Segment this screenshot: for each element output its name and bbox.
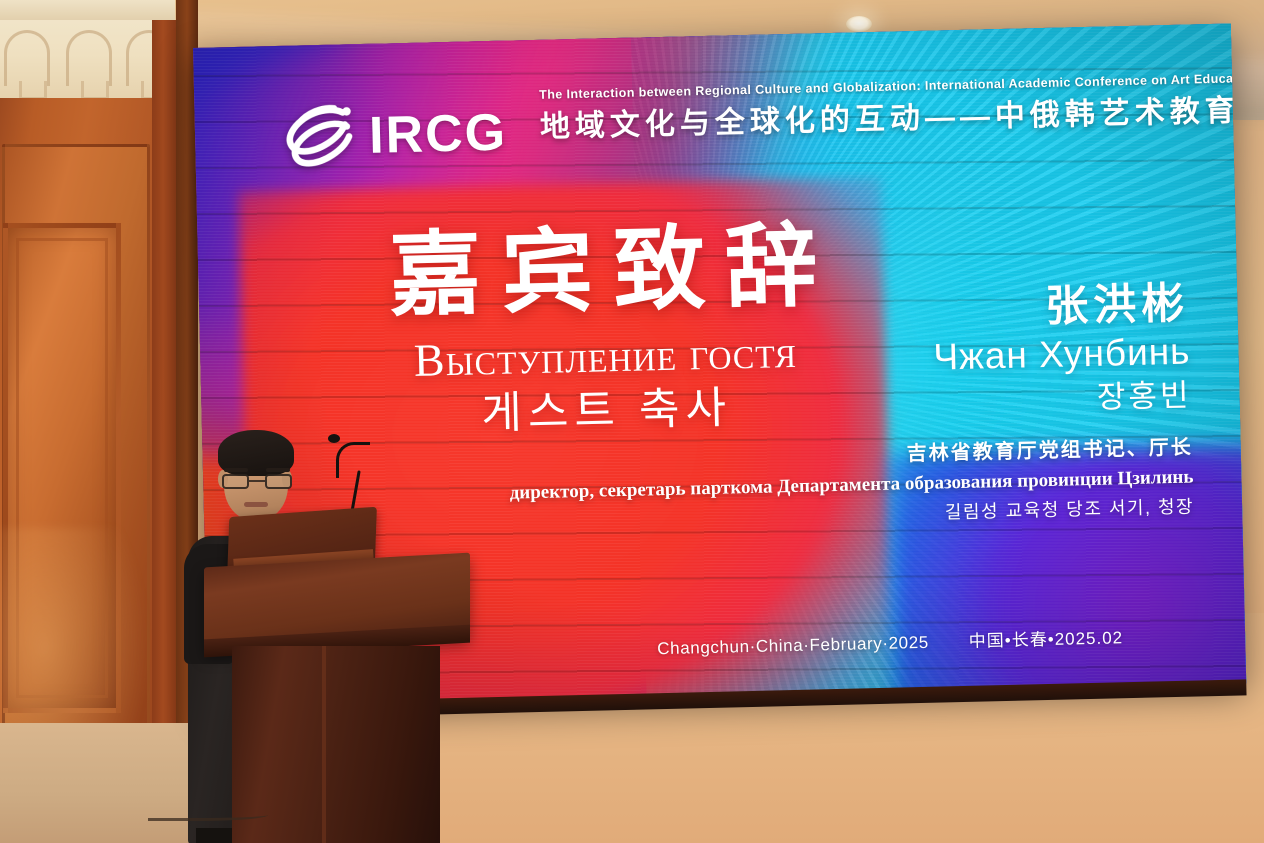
speaker-eyebrow — [266, 468, 290, 472]
microphone-gooseneck — [336, 442, 370, 478]
speaker-position-block: 吉林省教育厅党组书记、厅长 директор, секретарь партко… — [433, 433, 1195, 540]
microphone-icon — [328, 434, 340, 443]
cornice-top-band — [0, 0, 175, 20]
speaker-mouth — [244, 502, 268, 507]
speaker-eyebrow — [224, 468, 248, 472]
footer-chinese: 中国•长春•2025.02 — [968, 623, 1123, 652]
cornice-arch-motif — [4, 30, 50, 86]
headline-chinese: 地域文化与全球化的互动——中俄韩艺术教育国际学术会议 — [540, 94, 1241, 143]
podium-column-edge — [322, 646, 326, 843]
ircg-globe-swoosh-icon — [282, 102, 360, 172]
logo-wordmark: IRCG — [369, 107, 508, 162]
ceiling-downlight-icon — [846, 16, 872, 32]
speaker-name-block: 张洪彬 Чжан Хунбинь 장홍빈 — [749, 280, 1192, 426]
footer-english: Changchun·China·February·2025 — [657, 633, 929, 659]
decorative-cornice — [0, 0, 175, 100]
left-doorway — [0, 0, 200, 843]
podium — [204, 512, 474, 843]
cornice-arch-motif — [66, 30, 112, 86]
eyeglass-lens — [265, 474, 292, 489]
slide-footer: Changchun·China·February·2025 中国•长春•2025… — [657, 623, 1125, 659]
eyeglass-bridge — [249, 480, 265, 482]
eyeglasses-icon — [222, 474, 292, 490]
photo-scene: IRCG The Interaction between Regional Cu… — [0, 0, 1264, 843]
conference-logo: IRCG — [282, 99, 508, 172]
conference-headline: The Interaction between Regional Culture… — [539, 71, 1240, 143]
eyeglass-lens — [222, 474, 249, 489]
